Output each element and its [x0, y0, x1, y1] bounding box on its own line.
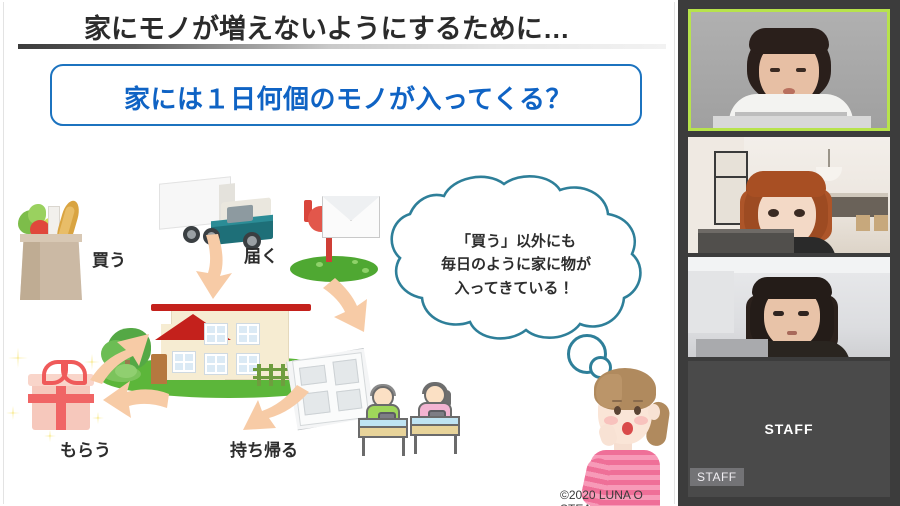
slide-canvas: 家にモノが増えないようにするために… 家には１日何個のモノが入ってくる？ 買う: [3, 2, 675, 504]
thinking-girl-illustration: [570, 354, 678, 506]
bubble-line-3: 入ってきている ！: [412, 277, 620, 300]
bubble-text: 「買う」以外にも 毎日のように家に物が 入ってきている ！: [412, 230, 620, 300]
bubble-line-1: 「買う」以外にも: [412, 230, 620, 253]
thought-bubble: 「買う」以外にも 毎日のように家に物が 入ってきている ！: [382, 174, 650, 364]
screen-share-meeting-view: 家にモノが増えないようにするために… 家には１日何個のモノが入ってくる？ 買う: [0, 0, 900, 506]
video-tile-participant-3[interactable]: [688, 257, 890, 357]
webcam-feed-3: [688, 257, 890, 357]
participant-name-badge: STAFF: [690, 468, 744, 486]
webcam-feed-1: [691, 12, 887, 128]
copyright-text: ©2020 LUNA O STEA: [560, 488, 674, 506]
video-tile-participant-1[interactable]: [688, 9, 890, 131]
bubble-line-2: 毎日のように家に物が: [412, 253, 620, 276]
video-tile-participant-2[interactable]: [688, 137, 890, 253]
participant-video-panel: STAFF STAFF: [678, 0, 900, 506]
shared-slide-region: 家にモノが増えないようにするために… 家には１日何個のモノが入ってくる？ 買う: [0, 0, 678, 506]
webcam-feed-2: [688, 137, 890, 253]
